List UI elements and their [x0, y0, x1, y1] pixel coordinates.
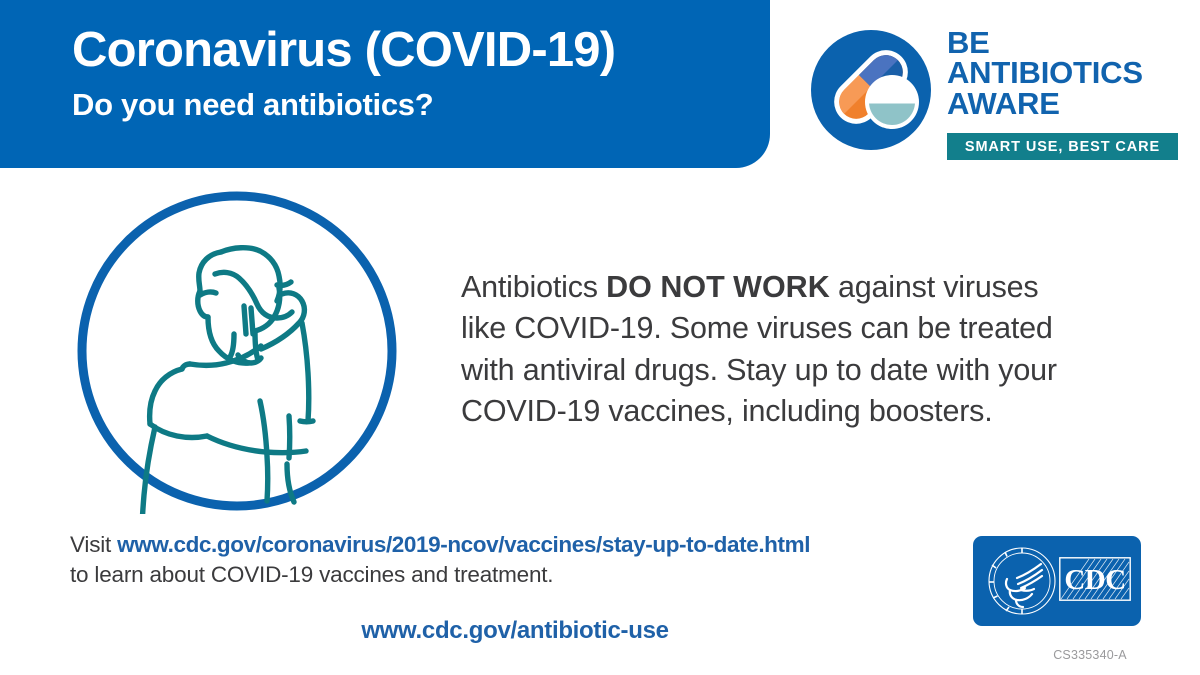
- visit-instruction: Visit www.cdc.gov/coronavirus/2019-ncov/…: [70, 530, 900, 590]
- cdc-logo: CDC: [973, 536, 1141, 626]
- page-title: Coronavirus (COVID-19): [72, 24, 615, 77]
- person-coughing-into-elbow-icon: [74, 188, 400, 514]
- logo-line-aware: AWARE: [947, 89, 1178, 119]
- be-antibiotics-aware-logo: BE ANTIBIOTICS AWARE SMART USE, BEST CAR…: [806, 22, 1178, 164]
- covid-antibiotics-poster: Coronavirus (COVID-19) Do you need antib…: [0, 0, 1200, 675]
- capsule-and-pill-icon: [806, 25, 936, 155]
- vaccines-url-link[interactable]: www.cdc.gov/coronavirus/2019-ncov/vaccin…: [117, 532, 810, 557]
- body-copy: Antibiotics DO NOT WORK against viruses …: [461, 267, 1061, 433]
- body-text-emphasis: DO NOT WORK: [606, 270, 830, 304]
- logo-line-antibiotics: ANTIBIOTICS: [947, 58, 1178, 88]
- antibiotic-use-url-link[interactable]: www.cdc.gov/antibiotic-use: [0, 617, 1030, 645]
- logo-tagline: SMART USE, BEST CARE: [965, 139, 1160, 155]
- cdc-wordmark: CDC: [1059, 557, 1131, 601]
- hhs-department-of-health-and-human-services-seal-icon: [983, 542, 1061, 620]
- be-antibiotics-aware-wordmark: BE ANTIBIOTICS AWARE: [947, 28, 1178, 119]
- page-subtitle: Do you need antibiotics?: [72, 88, 433, 122]
- visit-suffix: to learn about COVID-19 vaccines and tre…: [70, 560, 900, 590]
- logo-tagline-bar: SMART USE, BEST CARE: [947, 133, 1178, 160]
- svg-text:CDC: CDC: [1064, 564, 1125, 596]
- visit-prefix: Visit: [70, 532, 117, 557]
- logo-line-be: BE: [947, 28, 1178, 58]
- cs-number: CS335340-A: [1000, 648, 1180, 662]
- body-text-before: Antibiotics: [461, 270, 606, 304]
